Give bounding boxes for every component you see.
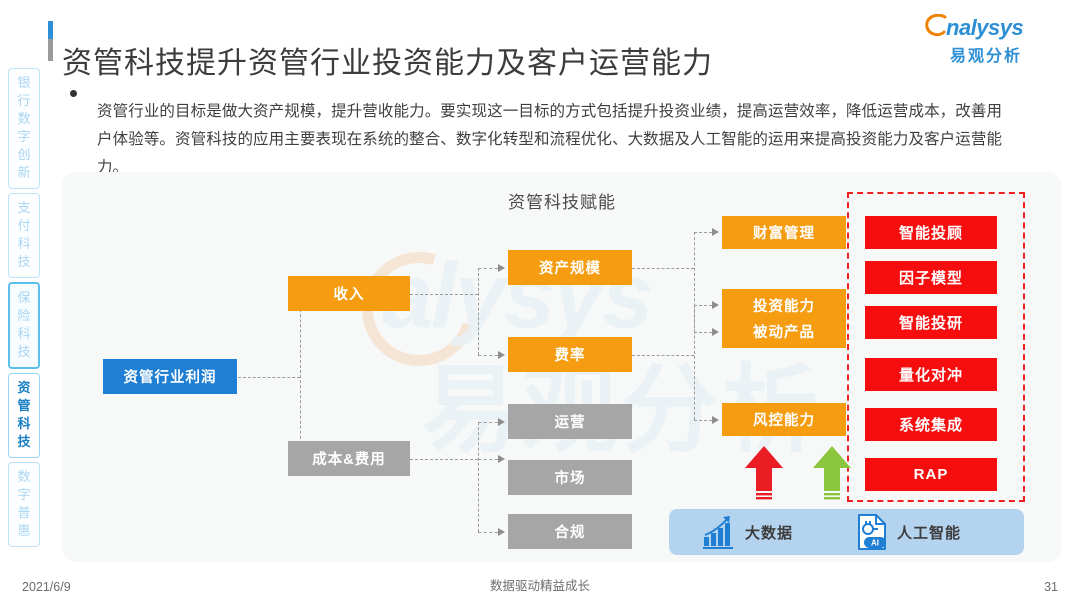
connector-to-operations	[478, 422, 498, 423]
title-accent-bar	[48, 21, 53, 61]
sidebar-item-payment-tech[interactable]: 支付科技	[8, 193, 40, 278]
brand-chinese-name: 易观分析	[950, 42, 1022, 66]
connector-root-stem	[238, 377, 300, 378]
arrow-to-risk-control	[712, 416, 719, 424]
enabling-tech-bar: 大数据 AI 人工智能	[669, 509, 1024, 555]
node-system-integration[interactable]: 系统集成	[865, 408, 997, 441]
arrow-to-asset-scale	[498, 264, 505, 272]
node-asset-scale[interactable]: 资产规模	[508, 250, 632, 285]
diagram-canvas: alysys 易观分析 资管科技赋能 资管行业利润 收入 成本&费用 资产规模 …	[62, 172, 1062, 562]
connector-cost-vertical	[478, 422, 479, 532]
green-up-arrow-icon	[810, 444, 854, 502]
connector-fee-stem	[632, 355, 694, 356]
node-market[interactable]: 市场	[508, 460, 632, 495]
node-compliance[interactable]: 合规	[508, 514, 632, 549]
brand-wordmark: nalysys	[946, 15, 1023, 41]
arrow-to-compliance	[498, 528, 505, 536]
footer-page-number: 31	[1044, 580, 1058, 594]
connector-fee-vertical	[694, 305, 695, 420]
node-rap[interactable]: RAP	[865, 458, 997, 491]
sidebar-rail: 银行数字创新 支付科技 保险科技 资管科技 数字普惠	[8, 68, 42, 551]
node-fee-rate[interactable]: 费率	[508, 337, 632, 372]
connector-root-vertical	[300, 294, 301, 459]
connector-revenue-stem	[410, 294, 478, 295]
red-up-arrow-icon	[742, 444, 786, 502]
connector-asset-stem	[632, 268, 694, 269]
page-title: 资管科技提升资管行业投资能力及客户运营能力	[62, 38, 713, 82]
node-cost-expense[interactable]: 成本&费用	[288, 441, 410, 476]
node-factor-model[interactable]: 因子模型	[865, 261, 997, 294]
bullet-point-icon	[70, 90, 77, 97]
arrow-to-passive-product	[712, 328, 719, 336]
node-smart-research[interactable]: 智能投研	[865, 306, 997, 339]
node-robo-advisor[interactable]: 智能投顾	[865, 216, 997, 249]
connector-cost-stem	[410, 459, 478, 460]
summary-paragraph: 资管行业的目标是做大资产规模，提升营收能力。要实现这一目标的方式包括提升投资业绩…	[97, 98, 1002, 182]
arrow-to-operations	[498, 418, 505, 426]
tech-label-big-data: 大数据	[745, 522, 793, 543]
connector-to-invest-ability	[694, 305, 712, 306]
ai-document-icon: AI	[855, 513, 889, 551]
sidebar-item-bank-digital-innovation[interactable]: 银行数字创新	[8, 68, 40, 189]
connector-to-risk-control	[694, 420, 712, 421]
sidebar-item-insurance-tech[interactable]: 保险科技	[8, 282, 40, 369]
node-risk-control-ability[interactable]: 风控能力	[722, 403, 846, 436]
arrow-to-fee-rate	[498, 351, 505, 359]
brand-logo: nalysys 易观分析	[916, 14, 1056, 64]
arrow-to-invest-ability	[712, 301, 719, 309]
connector-to-wealth-mgmt	[694, 232, 712, 233]
arrow-to-market	[498, 455, 505, 463]
sidebar-item-asset-management-tech[interactable]: 资管科技	[8, 373, 40, 458]
connector-to-asset-scale	[478, 268, 498, 269]
node-root-profit[interactable]: 资管行业利润	[103, 359, 237, 394]
node-operations[interactable]: 运营	[508, 404, 632, 439]
connector-to-passive-product	[694, 332, 712, 333]
node-quant-hedging[interactable]: 量化对冲	[865, 358, 997, 391]
bar-chart-growth-icon	[701, 515, 737, 549]
tech-item-big-data[interactable]: 大数据	[701, 515, 793, 549]
node-revenue[interactable]: 收入	[288, 276, 410, 311]
connector-to-market	[478, 459, 498, 460]
tech-label-ai: 人工智能	[897, 522, 961, 543]
node-wealth-management[interactable]: 财富管理	[722, 216, 846, 249]
tech-item-ai[interactable]: AI 人工智能	[855, 513, 961, 551]
sidebar-item-digital-inclusive-finance[interactable]: 数字普惠	[8, 462, 40, 547]
footer-tagline: 数据驱动精益成长	[0, 575, 1080, 594]
svg-text:AI: AI	[871, 539, 879, 548]
connector-to-compliance	[478, 532, 498, 533]
connector-revenue-vertical	[478, 268, 479, 355]
node-investment-ability[interactable]: 投资能力	[722, 289, 846, 322]
arrow-to-wealth-mgmt	[712, 228, 719, 236]
connector-to-fee-rate	[478, 355, 498, 356]
